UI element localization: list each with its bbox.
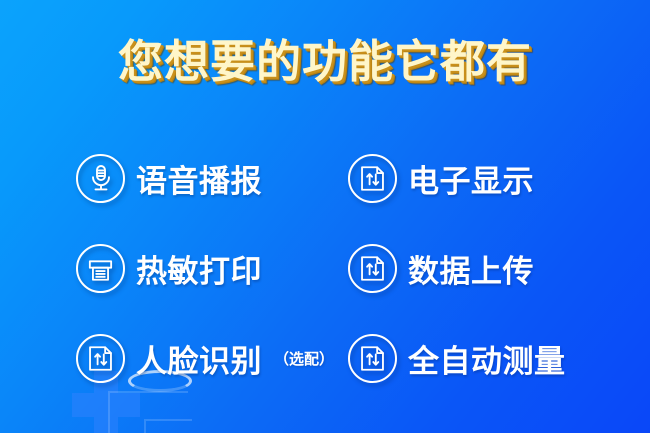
feature-item-voice-broadcast: 语音播报 [76,154,348,203]
data-transfer-icon [76,334,125,383]
feature-label: 数据上传 [408,246,534,291]
feature-item-face-recognition: 人脸识别 （选配） [76,334,348,383]
microphone-icon [76,154,125,203]
feature-label: 语音播报 [136,156,262,201]
feature-label: 热敏打印 [136,246,262,291]
feature-item-electronic-display: 电子显示 [348,154,616,203]
feature-grid: 语音播报 电子显示 [76,133,616,403]
feature-optional-note: （选配） [274,348,334,369]
feature-label: 电子显示 [408,156,534,201]
printer-icon [76,244,125,293]
feature-item-data-upload: 数据上传 [348,244,616,293]
feature-item-auto-measurement: 全自动测量 [348,334,616,383]
promo-poster: 您想要的功能它都有 语音播报 [0,0,650,433]
feature-label: 全自动测量 [408,336,566,381]
feature-item-thermal-printing: 热敏打印 [76,244,348,293]
data-transfer-icon [348,334,397,383]
page-title: 您想要的功能它都有 [0,38,650,87]
data-transfer-icon [348,244,397,293]
data-transfer-icon [348,154,397,203]
feature-label: 人脸识别 [136,336,262,381]
